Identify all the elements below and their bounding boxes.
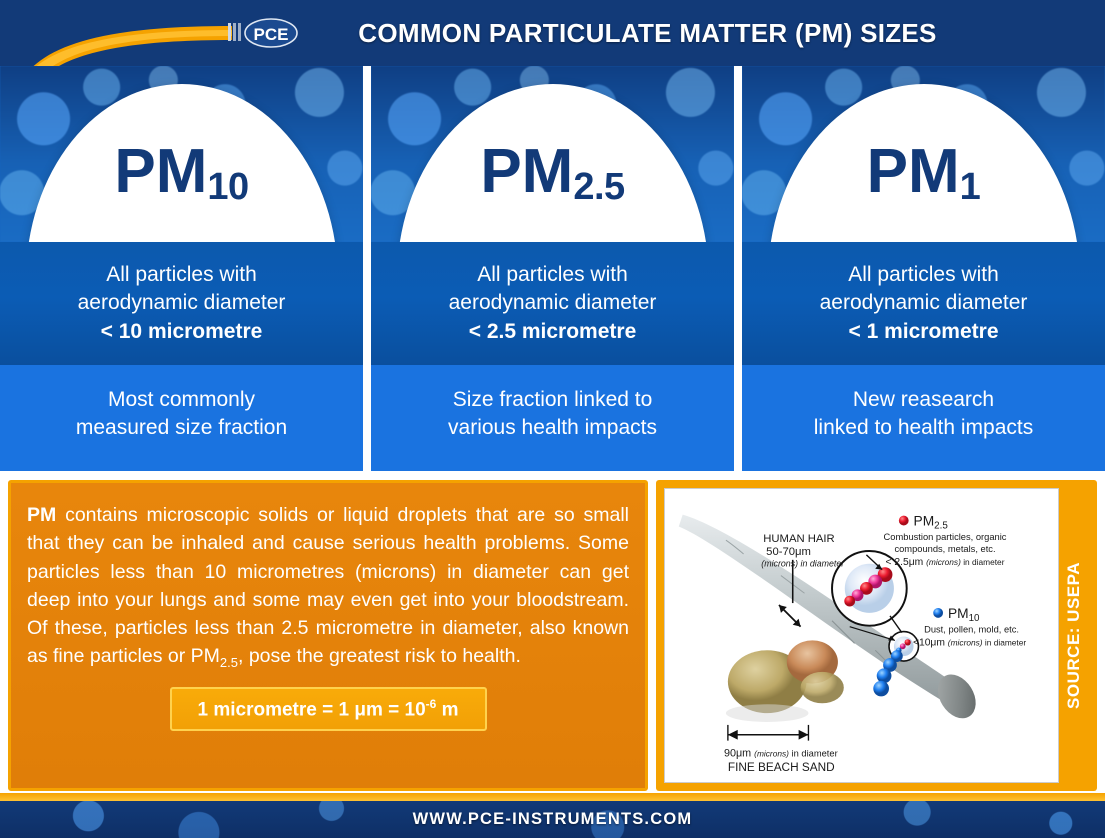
epa-illustration: HUMAN HAIR 50-70μm (microns) in diameter…	[665, 489, 1058, 782]
definition-line-1: All particles with	[106, 261, 257, 289]
definition-line-2: aerodynamic diameter	[78, 289, 286, 317]
description-body-subscript: 2.5	[220, 655, 238, 670]
pm-card-pm1: PM1 All particles with aerodynamic diame…	[742, 66, 1105, 471]
pm-cards-row: PM10 All particles with aerodynamic diam…	[0, 66, 1105, 471]
pm-card-label: PM1	[742, 141, 1105, 203]
definition-line-2: aerodynamic diameter	[449, 289, 657, 317]
pm-card-note: Most commonly measured size fraction	[0, 365, 363, 471]
human-hair-size: 50-70μm	[766, 546, 811, 558]
human-hair-label: HUMAN HAIR	[763, 533, 834, 545]
footer-bar: WWW.PCE-INSTRUMENTS.COM	[0, 801, 1105, 838]
pm-card-pm10: PM10 All particles with aerodynamic diam…	[0, 66, 363, 471]
epa-diagram-panel: HUMAN HAIR 50-70μm (microns) in diameter…	[656, 480, 1097, 791]
bottom-section: PM contains microscopic solids or liquid…	[0, 471, 1105, 801]
description-lead: PM	[27, 504, 56, 526]
definition-line-2: aerodynamic diameter	[820, 289, 1028, 317]
formula-prefix: 1 micrometre = 1 μm = 10	[198, 699, 426, 720]
pm10-legend: PM10 Dust, pollen, mold, etc. <10μm (mic…	[913, 606, 1026, 649]
source-label-wrapper: SOURCE: USEPA	[1059, 488, 1089, 783]
source-label: SOURCE: USEPA	[1064, 562, 1084, 709]
epa-diagram-image: HUMAN HAIR 50-70μm (microns) in diameter…	[664, 488, 1059, 783]
definition-line-3: < 2.5 micrometre	[469, 318, 637, 346]
pm-card-definition: All particles with aerodynamic diameter …	[742, 242, 1105, 365]
pm-card-definition: All particles with aerodynamic diameter …	[0, 242, 363, 365]
note-line-2: linked to health impacts	[814, 414, 1033, 442]
pm-label-subscript: 1	[960, 166, 981, 208]
pm-card-note: Size fraction linked to various health i…	[371, 365, 734, 471]
pm-card-definition: All particles with aerodynamic diameter …	[371, 242, 734, 365]
pm-card-label: PM2.5	[371, 141, 734, 203]
pm10-legend-title: PM10	[948, 606, 980, 624]
pm25-legend: PM2.5 Combustion particles, organic comp…	[884, 513, 1007, 567]
definition-line-1: All particles with	[477, 261, 628, 289]
pm-label-main: PM	[480, 137, 573, 206]
micrometre-formula: 1 micrometre = 1 μm = 10-6 m	[170, 687, 487, 731]
pm25-legend-line3: < 2.5μm (microns) in diameter	[886, 557, 1005, 568]
pm25-legend-title: PM2.5	[914, 513, 949, 531]
pm10-dot-icon	[933, 608, 943, 618]
human-hair-unit: (microns) in diameter	[761, 559, 845, 569]
pm10-legend-line2: <10μm (microns) in diameter	[913, 637, 1026, 648]
pm-card-pm25: PM2.5 All particles with aerodynamic dia…	[371, 66, 734, 471]
website-url-link[interactable]: WWW.PCE-INSTRUMENTS.COM	[413, 810, 693, 829]
pm-label-subscript: 2.5	[573, 166, 624, 208]
note-line-1: Most commonly	[108, 386, 255, 414]
sand-name-label: FINE BEACH SAND	[728, 761, 835, 774]
formula-suffix: m	[436, 699, 458, 720]
pm-label-main: PM	[867, 137, 960, 206]
description-text: PM contains microscopic solids or liquid…	[27, 501, 629, 673]
definition-line-3: < 10 micrometre	[101, 318, 263, 346]
note-line-2: measured size fraction	[76, 414, 287, 442]
definition-line-3: < 1 micrometre	[849, 318, 999, 346]
infographic-page: PCE COMMON PARTICULATE MATTER (PM) SIZES…	[0, 0, 1105, 838]
description-body: contains microscopic solids or liquid dr…	[27, 504, 629, 667]
description-panel: PM contains microscopic solids or liquid…	[8, 480, 648, 791]
header-bar: PCE COMMON PARTICULATE MATTER (PM) SIZES	[0, 0, 1105, 66]
note-line-2: various health impacts	[448, 414, 657, 442]
formula-wrapper: 1 micrometre = 1 μm = 10-6 m	[27, 687, 629, 731]
definition-line-1: All particles with	[848, 261, 999, 289]
pm10-legend-line1: Dust, pollen, mold, etc.	[924, 625, 1019, 635]
orange-divider	[0, 793, 1105, 801]
description-body-tail: , pose the greatest risk to health.	[238, 645, 521, 667]
sand-size-label: 90μm (microns) in diameter	[724, 747, 838, 759]
pm25-legend-line2: compounds, metals, etc.	[894, 544, 995, 554]
pm25-dot-icon	[899, 516, 909, 526]
pm-card-note: New reasearch linked to health impacts	[742, 365, 1105, 471]
pm25-legend-line1: Combustion particles, organic	[884, 532, 1007, 542]
note-line-1: Size fraction linked to	[453, 386, 653, 414]
formula-exponent: -6	[426, 697, 437, 711]
pm-card-label: PM10	[0, 141, 363, 203]
page-title: COMMON PARTICULATE MATTER (PM) SIZES	[0, 0, 1105, 66]
pm-label-main: PM	[114, 137, 207, 206]
sand-grain	[801, 672, 844, 703]
pm-label-subscript: 10	[207, 166, 248, 208]
note-line-1: New reasearch	[853, 386, 994, 414]
